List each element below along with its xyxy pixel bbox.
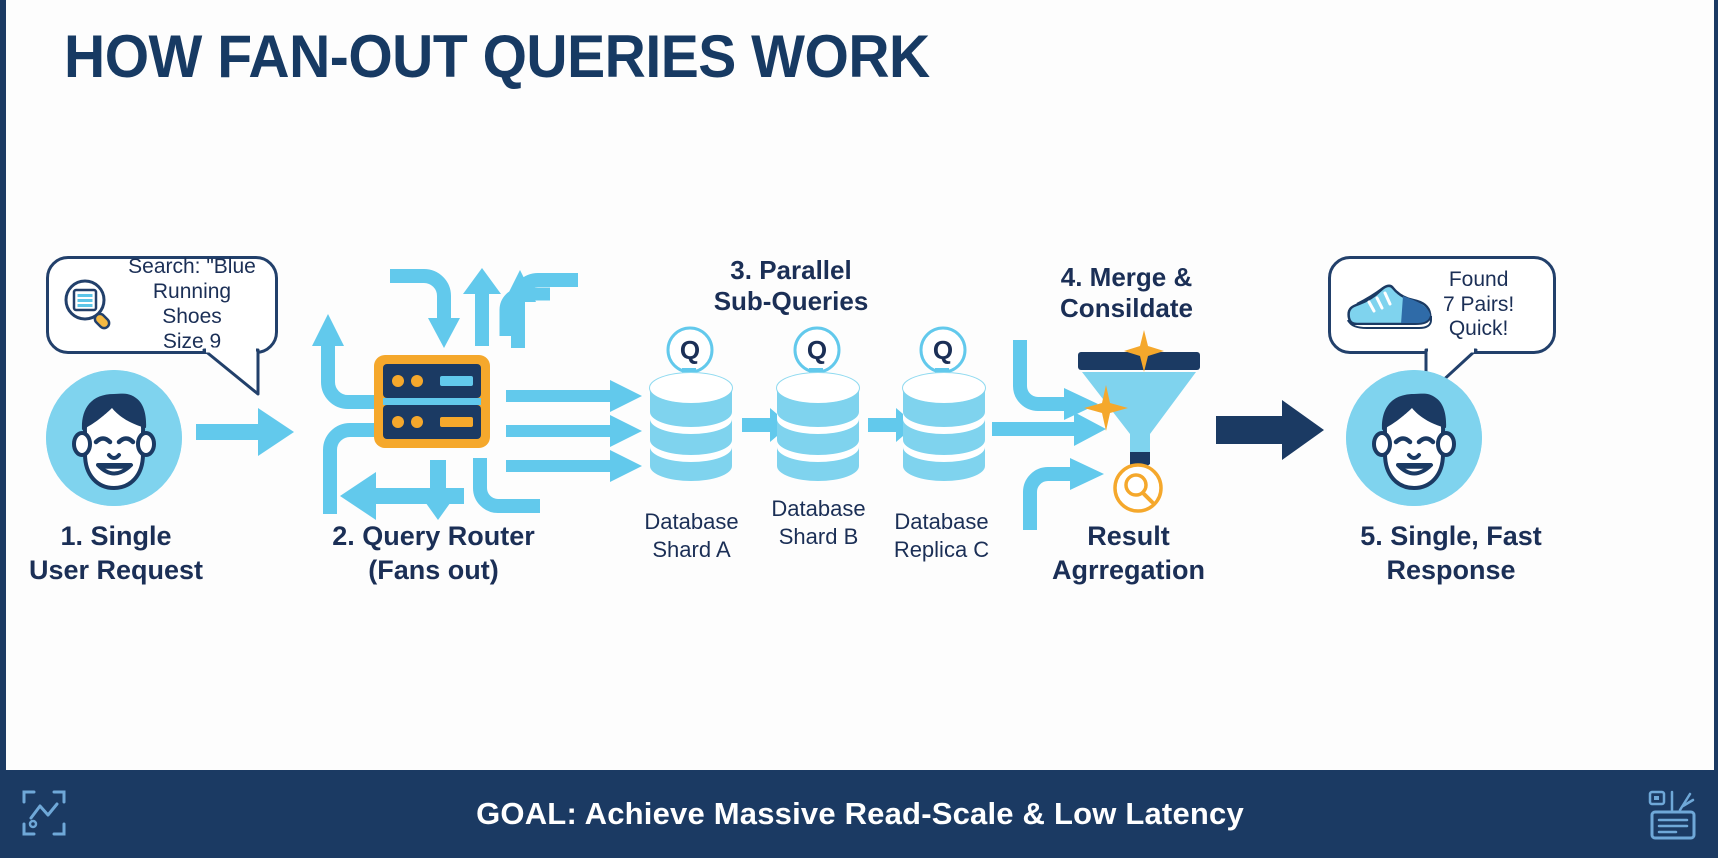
arrow-router-to-shard-1 bbox=[506, 380, 646, 416]
query-badge-icon-shard-b: Q bbox=[793, 326, 841, 374]
request-speech-bubble: Search: "Blue Running Shoes Size 9 bbox=[46, 256, 278, 354]
sparkle-icon-left bbox=[1084, 385, 1128, 431]
result-magnifier-icon bbox=[1112, 462, 1164, 514]
scan-frame-icon bbox=[20, 788, 68, 838]
heading-merge-consolidate: 4. Merge & Consildate bbox=[1024, 262, 1229, 324]
fanout-arrow-up bbox=[461, 268, 503, 346]
sparkle-icon-top bbox=[1124, 330, 1164, 372]
response-speech-bubble: Found 7 Pairs! Quick! bbox=[1328, 256, 1556, 354]
arrow-router-to-shard-2 bbox=[506, 415, 646, 451]
fanout-arrow-top-left bbox=[390, 268, 462, 350]
arrow-to-final-response bbox=[1216, 398, 1326, 462]
magnifier-document-icon bbox=[61, 277, 113, 333]
step-label-single-user-request: 1. Single User Request bbox=[6, 520, 226, 588]
step-label-single-fast-response: 5. Single, Fast Response bbox=[1306, 520, 1596, 588]
database-cylinder-shard-b bbox=[776, 372, 860, 482]
step-label-query-router: 2. Query Router (Fans out) bbox=[306, 520, 561, 588]
database-cylinder-replica-c bbox=[902, 372, 986, 482]
step-label-result-aggregation: Result Agrregation bbox=[1026, 520, 1231, 588]
user-avatar-icon bbox=[46, 370, 182, 506]
user-avatar-icon bbox=[1346, 370, 1482, 506]
svg-text:Q: Q bbox=[807, 335, 827, 365]
heading-parallel-sub-queries: 3. Parallel Sub-Queries bbox=[671, 255, 911, 317]
svg-text:Q: Q bbox=[680, 335, 700, 365]
response-bubble-text: Found 7 Pairs! Quick! bbox=[1443, 268, 1514, 342]
query-badge-icon-replica-c: Q bbox=[919, 326, 967, 374]
arrow-router-to-shard-3 bbox=[506, 450, 646, 486]
db-label-replica-c: Database Replica C bbox=[864, 508, 1019, 563]
db-label-shard-a: Database Shard A bbox=[619, 508, 764, 563]
document-card-icon bbox=[1646, 786, 1700, 842]
user-avatar-response bbox=[1346, 370, 1482, 506]
database-cylinder-shard-a bbox=[649, 372, 733, 482]
page-title: HOW FAN-OUT QUERIES WORK bbox=[64, 22, 930, 91]
fanout-arrow-right-curve bbox=[498, 288, 552, 338]
fanout-arrow-down bbox=[416, 460, 460, 520]
sneaker-icon bbox=[1343, 278, 1435, 332]
footer-goal-text: GOAL: Achieve Massive Read-Scale & Low L… bbox=[476, 796, 1244, 832]
slide-canvas: HOW FAN-OUT QUERIES WORK Search: "Blue R… bbox=[0, 0, 1718, 858]
request-bubble-text: Search: "Blue Running Shoes Size 9 bbox=[121, 255, 263, 354]
server-rack-icon bbox=[374, 355, 490, 448]
query-badge-icon-shard-a: Q bbox=[666, 326, 714, 374]
user-avatar-request bbox=[46, 370, 182, 506]
footer-banner: GOAL: Achieve Massive Read-Scale & Low L… bbox=[6, 770, 1714, 858]
arrow-user-to-router bbox=[196, 390, 306, 470]
svg-text:Q: Q bbox=[933, 335, 953, 365]
